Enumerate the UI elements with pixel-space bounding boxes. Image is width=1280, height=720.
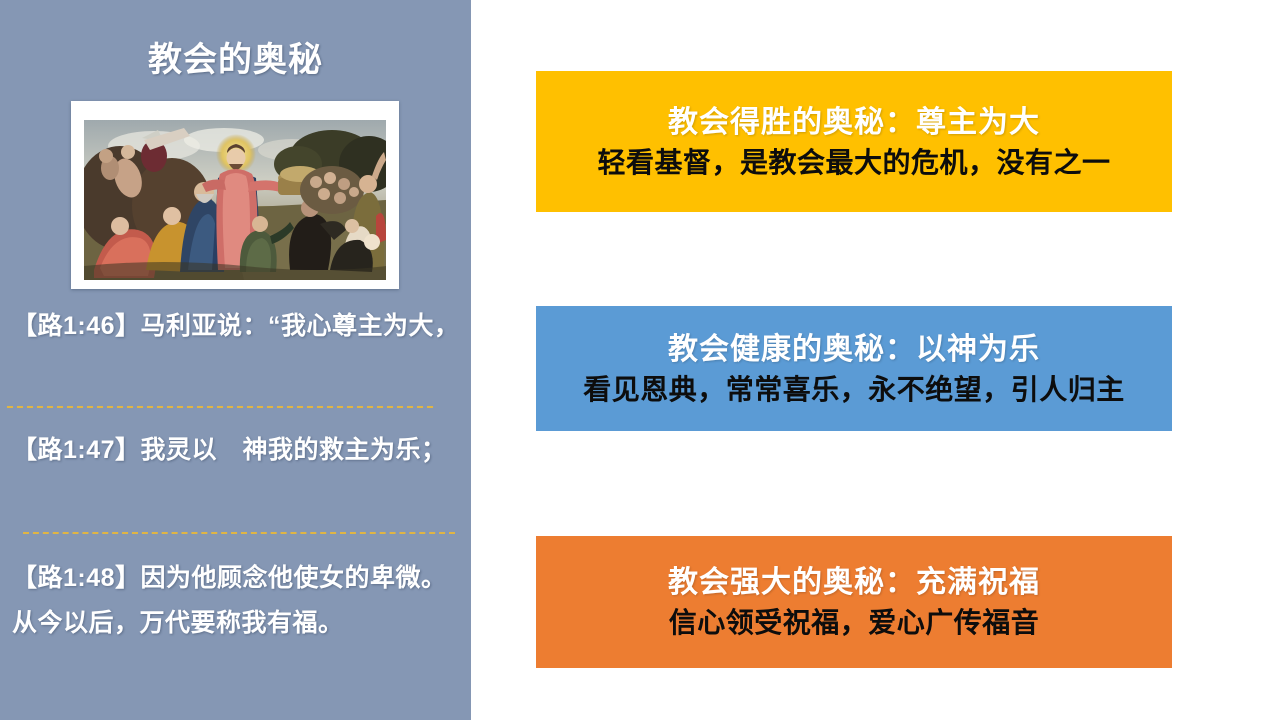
scripture-verse: 【路1:47】我灵以 神我的救主为乐； <box>12 428 460 473</box>
painting-image <box>84 120 386 280</box>
page-title: 教会的奥秘 <box>0 38 471 82</box>
verse-divider <box>23 532 455 534</box>
card-heading: 教会健康的奥秘：以神为乐 <box>668 329 1040 371</box>
card-subtitle: 轻看基督，是教会最大的危机，没有之一 <box>597 144 1110 182</box>
point-card-health: 教会健康的奥秘：以神为乐 看见恩典，常常喜乐，永不绝望，引人归主 <box>536 306 1172 431</box>
point-card-victory: 教会得胜的奥秘：尊主为大 轻看基督，是教会最大的危机，没有之一 <box>536 71 1172 212</box>
card-heading: 教会强大的奥秘：充满祝福 <box>668 562 1040 604</box>
point-card-strength: 教会强大的奥秘：充满祝福 信心领受祝福，爱心广传福音 <box>536 536 1172 668</box>
picture-frame <box>71 101 399 289</box>
sidebar-panel: 教会的奥秘 <box>0 0 471 720</box>
scripture-verse: 【路1:46】马利亚说：“我心尊主为大， <box>12 304 460 349</box>
scripture-verse: 【路1:48】因为他顾念他使女的卑微。从今以后，万代要称我有福。 <box>12 556 460 646</box>
card-subtitle: 看见恩典，常常喜乐，永不绝望，引人归主 <box>583 371 1125 409</box>
verse-divider <box>7 406 433 408</box>
card-subtitle: 信心领受祝福，爱心广传福音 <box>669 604 1040 642</box>
card-heading: 教会得胜的奥秘：尊主为大 <box>668 102 1040 144</box>
